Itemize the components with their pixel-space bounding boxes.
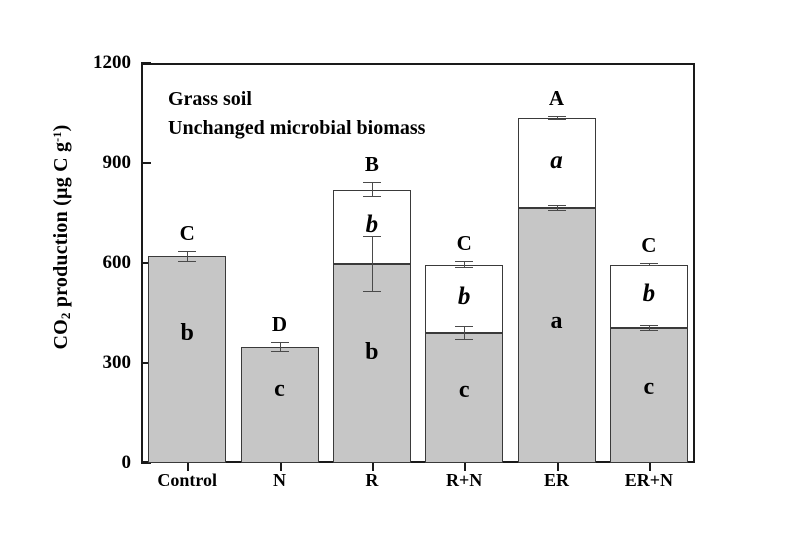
segment-letter-er-white: a [510, 148, 602, 173]
significance-letter-er-n: C [603, 235, 695, 256]
annotation-line-1: Grass soil [168, 85, 425, 114]
plot-annotation: Grass soil Unchanged microbial biomass [168, 85, 425, 143]
error-bar-er-n-grey [640, 325, 658, 330]
error-bar-r-n-grey [455, 326, 473, 341]
segment-letter-r-n-grey: c [418, 378, 510, 402]
segment-letter-er-n-white: b [603, 281, 695, 306]
segment-letter-control-grey: b [141, 321, 233, 345]
bar-control-grey-segment[interactable] [148, 256, 226, 463]
y-tick-1200 [141, 62, 151, 64]
y-axis-title-post: ) [50, 125, 72, 132]
y-tick-label-900: 900 [71, 153, 131, 172]
segment-letter-n-grey: c [233, 377, 325, 401]
error-bar-r-n-total [455, 261, 473, 268]
y-tick-900 [141, 162, 151, 164]
y-axis-title-pre: CO [50, 319, 72, 349]
segment-letter-r-white: b [326, 212, 418, 237]
significance-letter-r-n: C [418, 233, 510, 254]
y-tick-label-600: 600 [71, 253, 131, 272]
x-axis-label-er-n: ER+N [603, 470, 695, 491]
error-bar-er-grey [548, 205, 566, 212]
bar-er-grey-segment[interactable] [518, 208, 596, 463]
chart-figure: CO2 production (µg C g-1) 03006009001200… [0, 0, 803, 559]
significance-letter-n: D [233, 314, 325, 335]
error-bar-control-total [178, 251, 196, 262]
error-bar-er-total [548, 116, 566, 120]
error-bar-n-total [271, 342, 289, 351]
y-axis-title-sup: -1 [50, 131, 64, 141]
x-axis-label-control: Control [141, 470, 233, 491]
x-axis-label-r: R [326, 470, 418, 491]
segment-letter-er-n-grey: c [603, 375, 695, 399]
segment-letter-r-n-white: b [418, 284, 510, 309]
significance-letter-er: A [510, 88, 602, 109]
significance-letter-control: C [141, 223, 233, 244]
segment-letter-er-grey: a [510, 309, 602, 333]
y-axis-title-mid: production (µg C g [50, 142, 72, 313]
y-tick-label-0: 0 [71, 453, 131, 472]
x-axis-label-n: N [233, 470, 325, 491]
y-tick-label-1200: 1200 [71, 53, 131, 72]
significance-letter-r: B [326, 154, 418, 175]
error-bar-er-n-total [640, 263, 658, 266]
segment-letter-r-grey: b [326, 340, 418, 364]
error-bar-r-total [363, 182, 381, 197]
error-bar-r-grey [363, 236, 381, 293]
annotation-line-2: Unchanged microbial biomass [168, 114, 425, 143]
y-tick-label-300: 300 [71, 353, 131, 372]
bar-n-grey-segment[interactable] [241, 347, 319, 463]
x-axis-label-er: ER [510, 470, 602, 491]
y-axis-title-sub: 2 [58, 312, 73, 319]
x-axis-label-r-n: R+N [418, 470, 510, 491]
